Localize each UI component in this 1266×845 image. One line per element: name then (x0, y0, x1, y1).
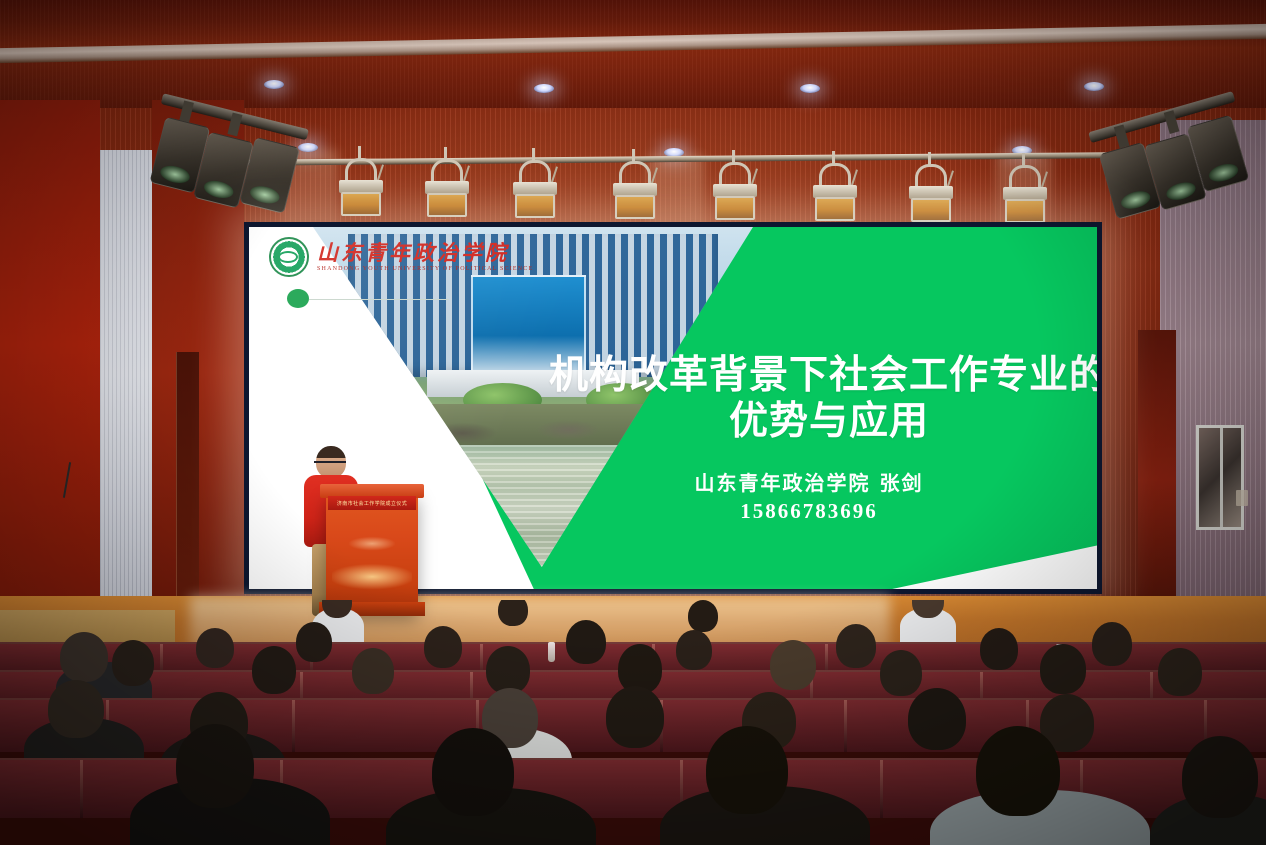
audience-head (706, 726, 788, 814)
stage-light-fixture[interactable] (712, 162, 758, 220)
slide-bullet-dot-icon (287, 289, 309, 308)
light-lens (427, 193, 467, 217)
light-lens (615, 195, 655, 219)
photo-shrub (357, 383, 427, 417)
audience-head (48, 680, 104, 738)
audience-head (176, 724, 254, 808)
audience-head (880, 650, 922, 696)
light-lens (815, 197, 855, 221)
light-lens (341, 192, 381, 216)
stage-light-fixture[interactable] (338, 158, 384, 216)
right-wall-wood-column (1138, 330, 1176, 630)
university-name-en: SHANDONG YOUTH UNIVERSITY OF POLITICAL S… (317, 266, 533, 272)
audience-head (432, 728, 514, 816)
slide-title: 机构改革背景下社会工作专业的优势与应用 (549, 353, 1097, 445)
audience-head (252, 646, 296, 694)
audience-head (566, 620, 606, 664)
slide-bullet-rule (309, 299, 449, 300)
light-lens (515, 194, 555, 218)
podium-artwork (332, 522, 412, 594)
audience-head (112, 640, 154, 686)
ceiling-downlight (534, 84, 554, 93)
audience-area (0, 600, 1266, 845)
audience-head (980, 628, 1018, 670)
audience-head (770, 640, 816, 690)
audience-head (836, 624, 876, 668)
water-bottle (548, 642, 555, 662)
audience-head (688, 600, 718, 632)
ceiling-downlight (1084, 82, 1104, 91)
audience-head (352, 648, 394, 694)
audience-head (498, 600, 528, 626)
left-wall-red-panel (0, 100, 100, 645)
auditorium-scene: 山东青年政治学院 SHANDONG YOUTH UNIVERSITY OF PO… (0, 0, 1266, 845)
audience-head (676, 630, 712, 670)
ceiling-downlight (264, 80, 284, 89)
podium-banner: 济南市社会工作学院成立仪式 (328, 496, 416, 510)
light-lens (715, 196, 755, 220)
slide-logo: 山东青年政治学院 SHANDONG YOUTH UNIVERSITY OF PO… (269, 237, 533, 277)
stage-light-fixture[interactable] (908, 164, 954, 222)
audience-head (908, 688, 966, 750)
audience-head (60, 632, 108, 682)
slide-phone-number: 15866783696 (549, 499, 1069, 524)
stage-light-fixture[interactable] (812, 163, 858, 221)
stage-light-fixture[interactable] (1002, 165, 1048, 223)
ceiling-downlight (800, 84, 820, 93)
right-wall-window[interactable] (1196, 425, 1244, 530)
audience-head (296, 622, 332, 662)
left-wall-pale-panel-texture (100, 150, 152, 650)
stage-light-fixture[interactable] (612, 161, 658, 219)
audience-head (1092, 622, 1132, 666)
slide-presenter: 山东青年政治学院 张剑 (549, 467, 1069, 496)
podium-banner-text: 济南市社会工作学院成立仪式 (337, 500, 407, 507)
audience-head (1158, 648, 1202, 696)
audience-head (606, 686, 664, 748)
audience-head (1182, 736, 1258, 818)
university-seal-icon (269, 237, 309, 277)
podium: 济南市社会工作学院成立仪式 (326, 494, 418, 614)
audience-head (196, 628, 234, 668)
stage-light-fixture[interactable] (424, 159, 470, 217)
light-lens (1005, 199, 1045, 223)
audience-head (1040, 644, 1086, 694)
wall-outlet-right[interactable] (1236, 490, 1248, 506)
audience-head (486, 646, 530, 694)
audience-head (976, 726, 1060, 816)
speaker-glasses-icon (314, 461, 346, 468)
stage-light-fixture[interactable] (512, 160, 558, 218)
audience-head (424, 626, 462, 668)
light-lens (911, 198, 951, 222)
university-name-cn: 山东青年政治学院 (317, 242, 533, 263)
